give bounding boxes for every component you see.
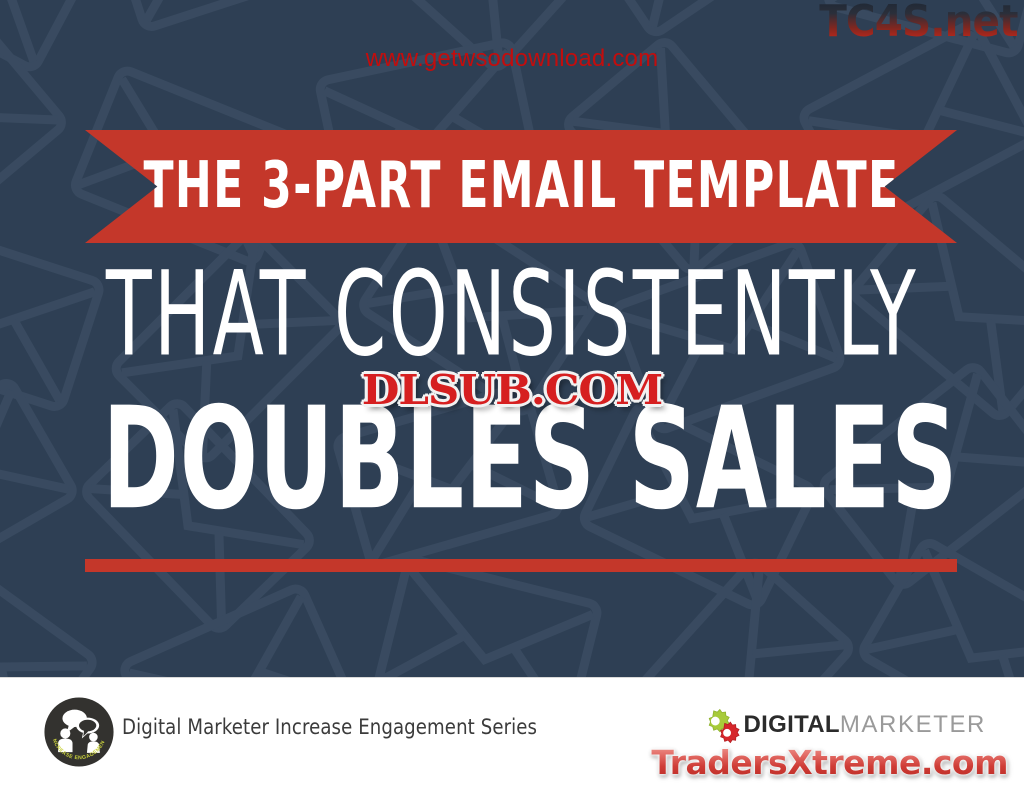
watermark-tc4s: TC4S.net xyxy=(820,0,1018,47)
series-label: Digital Marketer Increase Engagement Ser… xyxy=(122,715,537,739)
logo-text-digital: DIGITAL xyxy=(744,711,840,739)
ribbon-title: THE 3-PART EMAIL TEMPLATE xyxy=(143,155,899,219)
digitalmarketer-logo: DIGITAL MARKETER xyxy=(698,706,986,744)
headline-line-1: THAT CONSISTENTLY xyxy=(102,256,921,372)
red-divider-rule xyxy=(85,559,957,572)
hero-section: www.getwsodownload.com TC4S.net THE 3-PA… xyxy=(0,0,1024,677)
increase-engagement-badge-icon: INCREASE ENGAGEMENT xyxy=(43,696,115,768)
logo-text-marketer: MARKETER xyxy=(840,711,986,739)
gears-icon xyxy=(698,706,742,744)
slide-canvas: www.getwsodownload.com TC4S.net THE 3-PA… xyxy=(0,0,1024,791)
watermark-dlsub: DLSUB.COM xyxy=(0,366,1024,414)
ribbon-banner: THE 3-PART EMAIL TEMPLATE xyxy=(85,130,957,243)
watermark-tradersxtreme: TradersXtreme.com xyxy=(651,743,1008,782)
watermark-getwsodownload: www.getwsodownload.com xyxy=(0,45,1024,73)
